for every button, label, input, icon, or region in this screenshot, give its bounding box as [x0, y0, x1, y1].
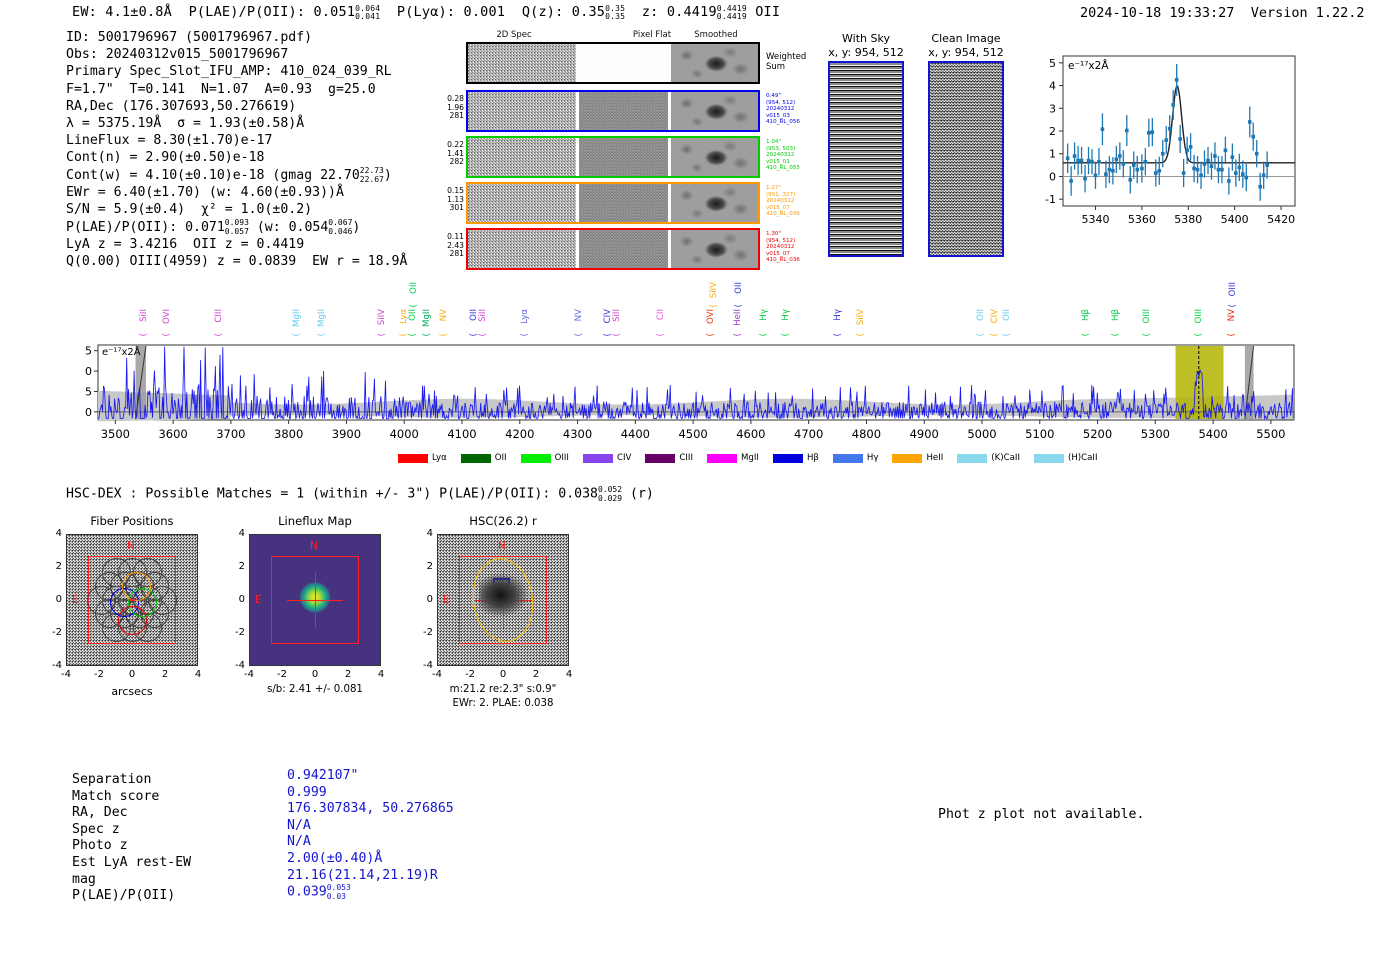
- emission-line-brace: (: [478, 333, 488, 337]
- emission-line-label: MgII: [317, 309, 327, 327]
- cutout-title-0: Fiber Positions: [36, 514, 228, 528]
- legend-swatch: [645, 454, 675, 463]
- with-sky-coords: x, y: 954, 512: [816, 46, 916, 59]
- emission-line-label: OII: [408, 309, 418, 321]
- emission-line-label: OIII: [1228, 282, 1238, 296]
- fiber-metadata: 1.30" (954, 512) 20240312 v015_07 410_RL…: [766, 231, 800, 264]
- svg-text:4400: 4400: [621, 427, 650, 441]
- spec2d-raw-image: [468, 92, 576, 130]
- cutout-ytick: 0: [50, 594, 62, 605]
- version: Version 1.22.2: [1251, 5, 1365, 21]
- emission-line-brace: (: [439, 333, 449, 337]
- emission-line-label: OII: [409, 282, 419, 294]
- hscdex-band: (r): [630, 487, 654, 502]
- compass-n: N: [127, 540, 135, 552]
- svg-text:4300: 4300: [563, 427, 592, 441]
- compass-n: N: [310, 540, 318, 552]
- svg-text:5400: 5400: [1198, 427, 1227, 441]
- cutout-ytick: 2: [233, 561, 245, 572]
- legend-label: Lyα: [432, 453, 447, 463]
- spec2d-smoothed-image: [671, 184, 758, 222]
- match-key: Photo z: [72, 838, 128, 855]
- header-z: z: 0.4419: [642, 4, 717, 20]
- compass-e: E: [443, 594, 450, 606]
- legend-label: Hβ: [807, 453, 819, 463]
- info-line: Primary Spec_Slot_IFU_AMP: 410_024_039_R…: [66, 63, 407, 80]
- compass-n: N: [498, 540, 506, 552]
- with-sky-image: [828, 61, 904, 257]
- legend-label: MgII: [741, 453, 759, 463]
- match-key: P(LAE)/P(OII): [72, 888, 175, 905]
- emission-line-brace: (: [709, 304, 719, 308]
- match-key: Match score: [72, 789, 159, 806]
- svg-text:-1: -1: [1045, 193, 1056, 206]
- cutout-ytick: 0: [233, 594, 245, 605]
- svg-text:5000: 5000: [967, 427, 996, 441]
- spec2d-flat-image: [579, 92, 668, 130]
- info-line: Obs: 20240312v015_5001796967: [66, 46, 407, 63]
- spec2d-fiber-row: [466, 136, 760, 178]
- weighted-sum-label: Weighted Sum: [766, 52, 806, 72]
- match-value: N/A: [287, 818, 311, 835]
- emission-line-label: CIV: [990, 309, 1000, 323]
- svg-text:4800: 4800: [852, 427, 881, 441]
- legend-swatch: [583, 454, 613, 463]
- svg-text:2.5: 2.5: [84, 385, 92, 398]
- cutout-caption-2: m:21.2 re:2.3" s:0.9": [407, 684, 599, 695]
- fiber-metadata: 0.49" (954, 512) 20240312 v015_03 410_RL…: [766, 93, 800, 126]
- match-key: Spec z: [72, 822, 120, 839]
- legend-swatch: [521, 454, 551, 463]
- emission-line-label: SiIV: [709, 282, 719, 298]
- spec2d-smoothed-image: [671, 92, 758, 130]
- svg-text:5.0: 5.0: [84, 365, 92, 378]
- emission-line-label: OII: [734, 282, 744, 294]
- header-qz-range: 0.350.35: [605, 5, 625, 22]
- emission-line-label: Hβ: [1081, 309, 1091, 321]
- emission-line-brace: (: [759, 333, 769, 337]
- emission-line-brace: (: [317, 333, 327, 337]
- emission-line-brace: (: [520, 333, 530, 337]
- emission-line-label: CII: [656, 309, 666, 320]
- compass-e: E: [255, 594, 262, 606]
- cutout-xtick: 2: [529, 669, 543, 680]
- cutout-ytick: 2: [50, 561, 62, 572]
- match-key: mag: [72, 872, 96, 889]
- emission-line-brace: (: [292, 333, 302, 337]
- cutout-xtick: -4: [59, 669, 73, 680]
- legend-swatch: [773, 454, 803, 463]
- match-key: Separation: [72, 772, 151, 789]
- svg-text:5420: 5420: [1267, 213, 1295, 226]
- cutout-ytick: -2: [233, 627, 245, 638]
- spec2d-flat-image: [579, 230, 668, 268]
- spec2d-col-title: Pixel Flat: [622, 30, 682, 40]
- emission-line-brace: (: [990, 333, 1000, 337]
- header-ew: EW: 4.1±0.8Å: [72, 4, 172, 20]
- fiber-metadata: 1.27" (951, 327) 20240312 v015_07 410_RL…: [766, 185, 800, 218]
- match-plae-range: 0.0530.03: [327, 884, 351, 901]
- emission-line-brace: (: [1081, 333, 1091, 337]
- emission-line-label: OVI: [706, 309, 716, 324]
- fiber-stats: 0.28 1.96 281: [412, 95, 464, 121]
- legend-swatch: [892, 454, 922, 463]
- legend-swatch: [398, 454, 428, 463]
- match-value: 2.00(±0.40)Å: [287, 851, 382, 868]
- svg-text:5400: 5400: [1221, 213, 1249, 226]
- emission-line-brace: (: [706, 333, 716, 337]
- info-line: S/N = 5.9(±0.4) χ² = 1.0(±0.2): [66, 201, 407, 218]
- emission-line-brace: (: [733, 333, 743, 337]
- match-value: 0.0390.0530.03: [287, 884, 351, 901]
- match-value: 21.16(21.14,21.19)R: [287, 868, 438, 885]
- header-qz: Q(z): 0.35: [522, 4, 605, 20]
- cutout-title-2: HSC(26.2) r: [407, 514, 599, 528]
- spec2d-panel: 2D SpecPixel FlatSmoothedWeighted Sum0.2…: [440, 30, 800, 260]
- match-value: 0.942107": [287, 768, 358, 785]
- object-info-block: ID: 5001796967 (5001796967.pdf)Obs: 2024…: [66, 29, 407, 270]
- emission-line-brace: (: [214, 333, 224, 337]
- svg-text:0.0: 0.0: [84, 406, 92, 419]
- svg-text:4500: 4500: [678, 427, 707, 441]
- emission-line-label: OIII: [1194, 309, 1204, 323]
- svg-text:5200: 5200: [1083, 427, 1112, 441]
- emission-line-label: Hγ: [781, 309, 791, 321]
- svg-text:5300: 5300: [1141, 427, 1170, 441]
- emission-line-brace: (: [833, 333, 843, 337]
- match-value: N/A: [287, 834, 311, 851]
- svg-text:0: 0: [1049, 170, 1056, 183]
- header-plae: P(LAE)/P(OII): 0.051: [189, 4, 356, 20]
- spec2d-col-title: Smoothed: [686, 30, 746, 40]
- photz-message: Phot z plot not available.: [938, 807, 1144, 822]
- spec2d-smoothed-image: [671, 44, 758, 82]
- cutout-caption2-2: EWr: 2. PLAE: 0.038: [407, 698, 599, 709]
- gmag-range: 22.7322.67: [360, 167, 384, 184]
- emission-line-label: OVI: [162, 309, 172, 324]
- sky-clean-panel: With Skyx, y: 954, 512Clean Imagex, y: 9…: [820, 30, 1020, 260]
- emission-line-label: Hγ: [759, 309, 769, 321]
- info-line: λ = 5375.19Å σ = 1.93(±0.58)Å: [66, 115, 407, 132]
- compass-e: E: [72, 594, 79, 606]
- emission-line-brace: (: [1002, 333, 1012, 337]
- header-summary: EW: 4.1±0.8Å P(LAE)/P(OII): 0.0510.0640.…: [72, 4, 780, 22]
- info-line: P(LAE)/P(OII): 0.0710.0930.057 (w: 0.054…: [66, 219, 407, 237]
- line-profile-plot: 543210-153405360538054005420e⁻¹⁷x2Å: [1033, 50, 1315, 270]
- svg-text:3500: 3500: [101, 427, 130, 441]
- cutout-xlabel: arcsecs: [66, 685, 198, 698]
- match-key: RA, Dec: [72, 805, 128, 822]
- crosshair-h: [287, 600, 343, 601]
- spec2d-smoothed-image: [671, 230, 758, 268]
- svg-text:e⁻¹⁷x2Å: e⁻¹⁷x2Å: [1068, 59, 1109, 72]
- timestamp-version: 2024-10-18 19:33:27 Version 1.22.2: [1080, 5, 1365, 21]
- emission-line-brace: (: [781, 333, 791, 337]
- spec2d-smoothed-image: [671, 138, 758, 176]
- header-z-range: 0.44190.4419: [717, 5, 747, 22]
- galaxy-core: [479, 574, 527, 616]
- legend-label: OIII: [555, 453, 569, 463]
- info-line: LyA z = 3.4216 OII z = 0.4419: [66, 236, 407, 253]
- info-line: RA,Dec (176.307693,50.276619): [66, 98, 407, 115]
- timestamp: 2024-10-18 19:33:27: [1080, 5, 1234, 21]
- emission-line-label: Lyα: [520, 309, 530, 324]
- emission-line-label: NV: [1227, 309, 1237, 321]
- spec2d-raw-image: [468, 230, 576, 268]
- cutout-ytick: -2: [50, 627, 62, 638]
- legend-swatch: [957, 454, 987, 463]
- spec2d-raw-image: [468, 138, 576, 176]
- emission-line-brace: (: [162, 333, 172, 337]
- fiber-stats: 0.15 1.13 301: [412, 187, 464, 213]
- fiber-metadata: 1.04" (953, 503) 20240312 v015_01 410_RL…: [766, 139, 800, 172]
- legend-label: (K)CaII: [991, 453, 1020, 463]
- cutout-xtick: 4: [562, 669, 576, 680]
- legend-label: OII: [495, 453, 507, 463]
- info-line: Cont(n) = 2.90(±0.50)e-18: [66, 149, 407, 166]
- clean-image-image: [928, 61, 1004, 257]
- header-ztype: OII: [755, 4, 780, 20]
- emission-line-brace: (: [1142, 333, 1152, 337]
- hscdex-header: HSC-DEX : Possible Matches = 1 (within +…: [66, 486, 654, 503]
- fiber-circle-highlight: [122, 572, 151, 601]
- emission-line-label: OIII: [1142, 309, 1152, 323]
- spec2d-flat-image: [579, 184, 668, 222]
- spectrum-legend: LyαOIIOIIICIVCIIIMgIIHβHγHeII(K)CaII(H)C…: [398, 453, 1112, 464]
- emission-line-brace: (: [976, 333, 986, 337]
- spec2d-col-title: 2D Spec: [484, 30, 544, 40]
- emission-line-label: HeII: [733, 309, 743, 326]
- svg-text:5380: 5380: [1174, 213, 1202, 226]
- cutout-xtick: -4: [242, 669, 256, 680]
- svg-text:5340: 5340: [1081, 213, 1109, 226]
- header-plae-range: 0.0640.041: [355, 5, 380, 22]
- cutout-xtick: 2: [341, 669, 355, 680]
- match-value: 0.999: [287, 785, 327, 802]
- svg-text:3800: 3800: [274, 427, 303, 441]
- cutout-ytick: 0: [421, 594, 433, 605]
- svg-text:4900: 4900: [910, 427, 939, 441]
- spec2d-flat-image: [579, 138, 668, 176]
- cutout-xtick: 0: [308, 669, 322, 680]
- spec2d-raw-image: [468, 184, 576, 222]
- cutout-ytick: -2: [421, 627, 433, 638]
- info-line: F=1.7" T=0.141 N=1.07 A=0.93 g=25.0: [66, 81, 407, 98]
- hscdex-plae-range: 0.0520.029: [598, 486, 622, 503]
- plae-range: 0.0930.057: [225, 219, 249, 236]
- info-line: Q(0.00) OIII(4959) z = 0.0839 EW r = 18.…: [66, 253, 407, 270]
- legend-label: CIII: [679, 453, 693, 463]
- legend-label: HeII: [926, 453, 943, 463]
- svg-text:4000: 4000: [390, 427, 419, 441]
- emission-line-label: MgII: [292, 309, 302, 327]
- legend-label: CIV: [617, 453, 631, 463]
- legend-label: (H)CaII: [1068, 453, 1098, 463]
- emission-line-brace: (: [1228, 304, 1238, 308]
- spec2d-flat-image: [576, 44, 671, 82]
- svg-text:3700: 3700: [216, 427, 245, 441]
- emission-line-brace: (: [139, 333, 149, 337]
- emission-line-brace: (: [656, 333, 666, 337]
- emission-line-brace: (: [856, 333, 866, 337]
- svg-text:e⁻¹⁷x2Å: e⁻¹⁷x2Å: [102, 345, 141, 358]
- emission-line-label: OII: [1002, 309, 1012, 321]
- fiber-circle-highlight: [118, 606, 147, 635]
- cutout-xtick: 4: [191, 669, 205, 680]
- clean-image-coords: x, y: 954, 512: [916, 46, 1016, 59]
- emission-line-brace: (: [422, 333, 432, 337]
- cutout-title-1: Lineflux Map: [219, 514, 411, 528]
- info-line: LineFlux = 8.30(±1.70)e-17: [66, 132, 407, 149]
- emission-line-brace: (: [1111, 333, 1121, 337]
- emission-line-label: Hβ: [1111, 309, 1121, 321]
- legend-swatch: [833, 454, 863, 463]
- svg-text:3: 3: [1049, 102, 1056, 115]
- legend-swatch: [707, 454, 737, 463]
- emission-line-label: CIII: [214, 309, 224, 323]
- emission-line-brace: (: [612, 333, 622, 337]
- cutout-xtick: 2: [158, 669, 172, 680]
- svg-text:4200: 4200: [505, 427, 534, 441]
- fiber-stats: 0.22 1.41 282: [412, 141, 464, 167]
- emission-line-brace: (: [409, 304, 419, 308]
- emission-line-label: MgII: [422, 309, 432, 327]
- header-plya: P(Lyα): 0.001: [397, 4, 505, 20]
- info-line: EWr = 6.40(±1.70) (w: 4.60(±0.93))Å: [66, 184, 407, 201]
- cutout-ytick: 4: [233, 528, 245, 539]
- spec2d-weighted-sum-row: [466, 42, 760, 84]
- svg-text:3600: 3600: [158, 427, 187, 441]
- cutout-xtick: -2: [92, 669, 106, 680]
- emission-line-brace: (: [377, 333, 387, 337]
- emission-line-label: SiII: [139, 309, 149, 322]
- svg-text:5500: 5500: [1256, 427, 1285, 441]
- legend-swatch: [461, 454, 491, 463]
- cutout-caption-1: s/b: 2.41 +/- 0.081: [219, 684, 411, 695]
- emission-line-brace: (: [1227, 333, 1237, 337]
- info-line: Cont(w) = 4.10(±0.10)e-18 (gmag 22.7022.…: [66, 167, 407, 185]
- spec2d-fiber-row: [466, 90, 760, 132]
- svg-text:5: 5: [1049, 57, 1056, 70]
- cutout-xtick: 0: [125, 669, 139, 680]
- svg-text:1: 1: [1049, 148, 1056, 161]
- svg-text:3900: 3900: [332, 427, 361, 441]
- emission-line-label: SiIV: [377, 309, 387, 325]
- emission-line-label: NV: [439, 309, 449, 321]
- svg-text:4: 4: [1049, 80, 1056, 93]
- spec2d-raw-image: [468, 44, 576, 82]
- line-profile-svg: 543210-153405360538054005420e⁻¹⁷x2Å: [1033, 50, 1315, 270]
- emission-line-label: NV: [574, 309, 584, 321]
- match-value: 176.307834, 50.276865: [287, 801, 454, 818]
- hscdex-text: HSC-DEX : Possible Matches = 1 (within +…: [66, 487, 598, 502]
- emission-line-label: SiII: [478, 309, 488, 322]
- match-key: Est LyA rest-EW: [72, 855, 191, 872]
- cutout-xtick: 0: [496, 669, 510, 680]
- target-marker: [129, 599, 135, 601]
- svg-text:4100: 4100: [447, 427, 476, 441]
- info-line: ID: 5001796967 (5001796967.pdf): [66, 29, 407, 46]
- cutout-xtick: -2: [275, 669, 289, 680]
- emission-line-label: Hγ: [833, 309, 843, 321]
- emission-line-label: SiII: [612, 309, 622, 322]
- legend-label: Hγ: [867, 453, 879, 463]
- clean-image-title: Clean Image: [916, 32, 1016, 45]
- emission-line-label: SiIV: [856, 309, 866, 325]
- fiber-stats: 0.11 2.43 281: [412, 233, 464, 259]
- svg-text:5360: 5360: [1128, 213, 1156, 226]
- legend-swatch: [1034, 454, 1064, 463]
- svg-text:5100: 5100: [1025, 427, 1054, 441]
- cutout-xtick: -2: [463, 669, 477, 680]
- svg-text:7.5: 7.5: [84, 345, 92, 358]
- emission-line-label: OII: [976, 309, 986, 321]
- emission-line-brace: (: [734, 304, 744, 308]
- emission-line-brace: (: [408, 333, 418, 337]
- emission-line-brace: (: [574, 333, 584, 337]
- with-sky-title: With Sky: [816, 32, 916, 45]
- svg-text:4600: 4600: [736, 427, 765, 441]
- cutout-xtick: -4: [430, 669, 444, 680]
- plae-w-range: 0.0670.046: [328, 219, 352, 236]
- cutout-panels: Fiber Positions-4-4-2-2002244NEarcsecsLi…: [0, 510, 1400, 750]
- spec2d-fiber-row: [466, 182, 760, 224]
- cutout-xtick: 4: [374, 669, 388, 680]
- cutout-ytick: 4: [421, 528, 433, 539]
- cutout-ytick: 4: [50, 528, 62, 539]
- svg-text:4700: 4700: [794, 427, 823, 441]
- svg-text:2: 2: [1049, 125, 1056, 138]
- spec2d-fiber-row: [466, 228, 760, 270]
- cutout-ytick: 2: [421, 561, 433, 572]
- emission-line-brace: (: [1194, 333, 1204, 337]
